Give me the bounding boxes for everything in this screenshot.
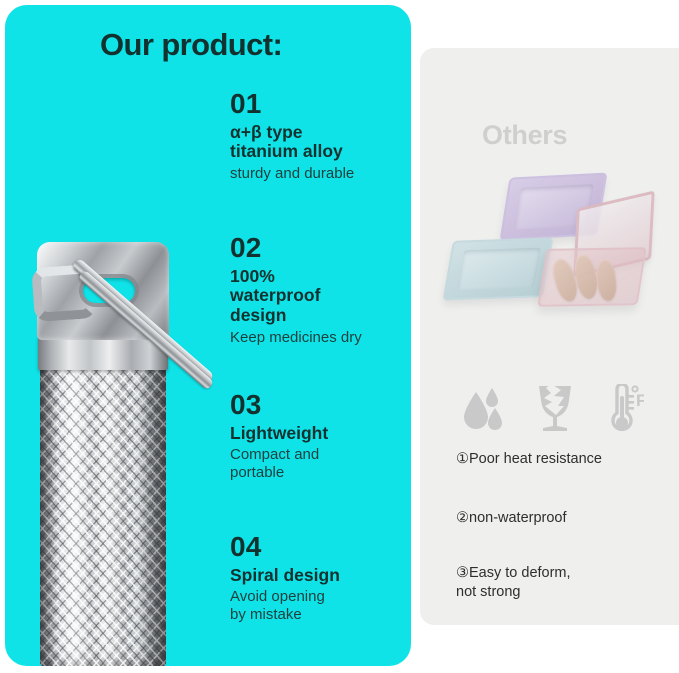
- plastic-box-blue-inner: [457, 248, 541, 291]
- feature-subtitle: Compact and portable: [230, 446, 411, 481]
- feature-item-03: 03 Lightweight Compact and portable: [230, 390, 411, 482]
- titanium-capsule-photo: [23, 238, 238, 666]
- feature-item-04: 04 Spiral design Avoid opening by mistak…: [230, 532, 411, 624]
- feature-title: 100% waterproof design: [230, 267, 411, 326]
- plastic-box-blue: [442, 237, 553, 300]
- infographic-stage: Our product: 01 α+β type titanium alloy …: [0, 0, 679, 673]
- drawback-item-3: ③Easy to deform, not strong: [456, 564, 671, 601]
- feature-title: Spiral design: [230, 566, 411, 586]
- feature-number: 03: [230, 390, 411, 421]
- others-title: Others: [482, 120, 567, 151]
- drawback-icon-row: F: [462, 382, 662, 432]
- drawback-item-1: ①Poor heat resistance: [456, 450, 671, 469]
- water-drops-icon: [462, 386, 506, 432]
- plastic-pill-boxes-photo: [430, 163, 678, 361]
- page-title: Our product:: [100, 27, 282, 63]
- others-panel: Others: [420, 48, 679, 625]
- feature-subtitle: Avoid opening by mistake: [230, 588, 411, 623]
- feature-item-02: 02 100% waterproof design Keep medicines…: [230, 233, 411, 346]
- feature-number: 01: [230, 89, 411, 120]
- drawback-item-2: ②non-waterproof: [456, 509, 671, 528]
- capsule-knurled-body: [40, 364, 166, 666]
- feature-subtitle: Keep medicines dry: [230, 329, 411, 347]
- our-product-panel: Our product: 01 α+β type titanium alloy …: [5, 5, 411, 666]
- feature-number: 04: [230, 532, 411, 563]
- feature-item-01: 01 α+β type titanium alloy sturdy and du…: [230, 89, 411, 183]
- plastic-box-pink: [537, 247, 647, 307]
- feature-title: Lightweight: [230, 424, 411, 444]
- feature-title: α+β type titanium alloy: [230, 123, 411, 162]
- broken-glass-icon: [534, 384, 576, 432]
- svg-text:F: F: [636, 391, 644, 410]
- feature-subtitle: sturdy and durable: [230, 165, 411, 183]
- feature-number: 02: [230, 233, 411, 264]
- thermometer-fahrenheit-icon: F: [604, 384, 644, 432]
